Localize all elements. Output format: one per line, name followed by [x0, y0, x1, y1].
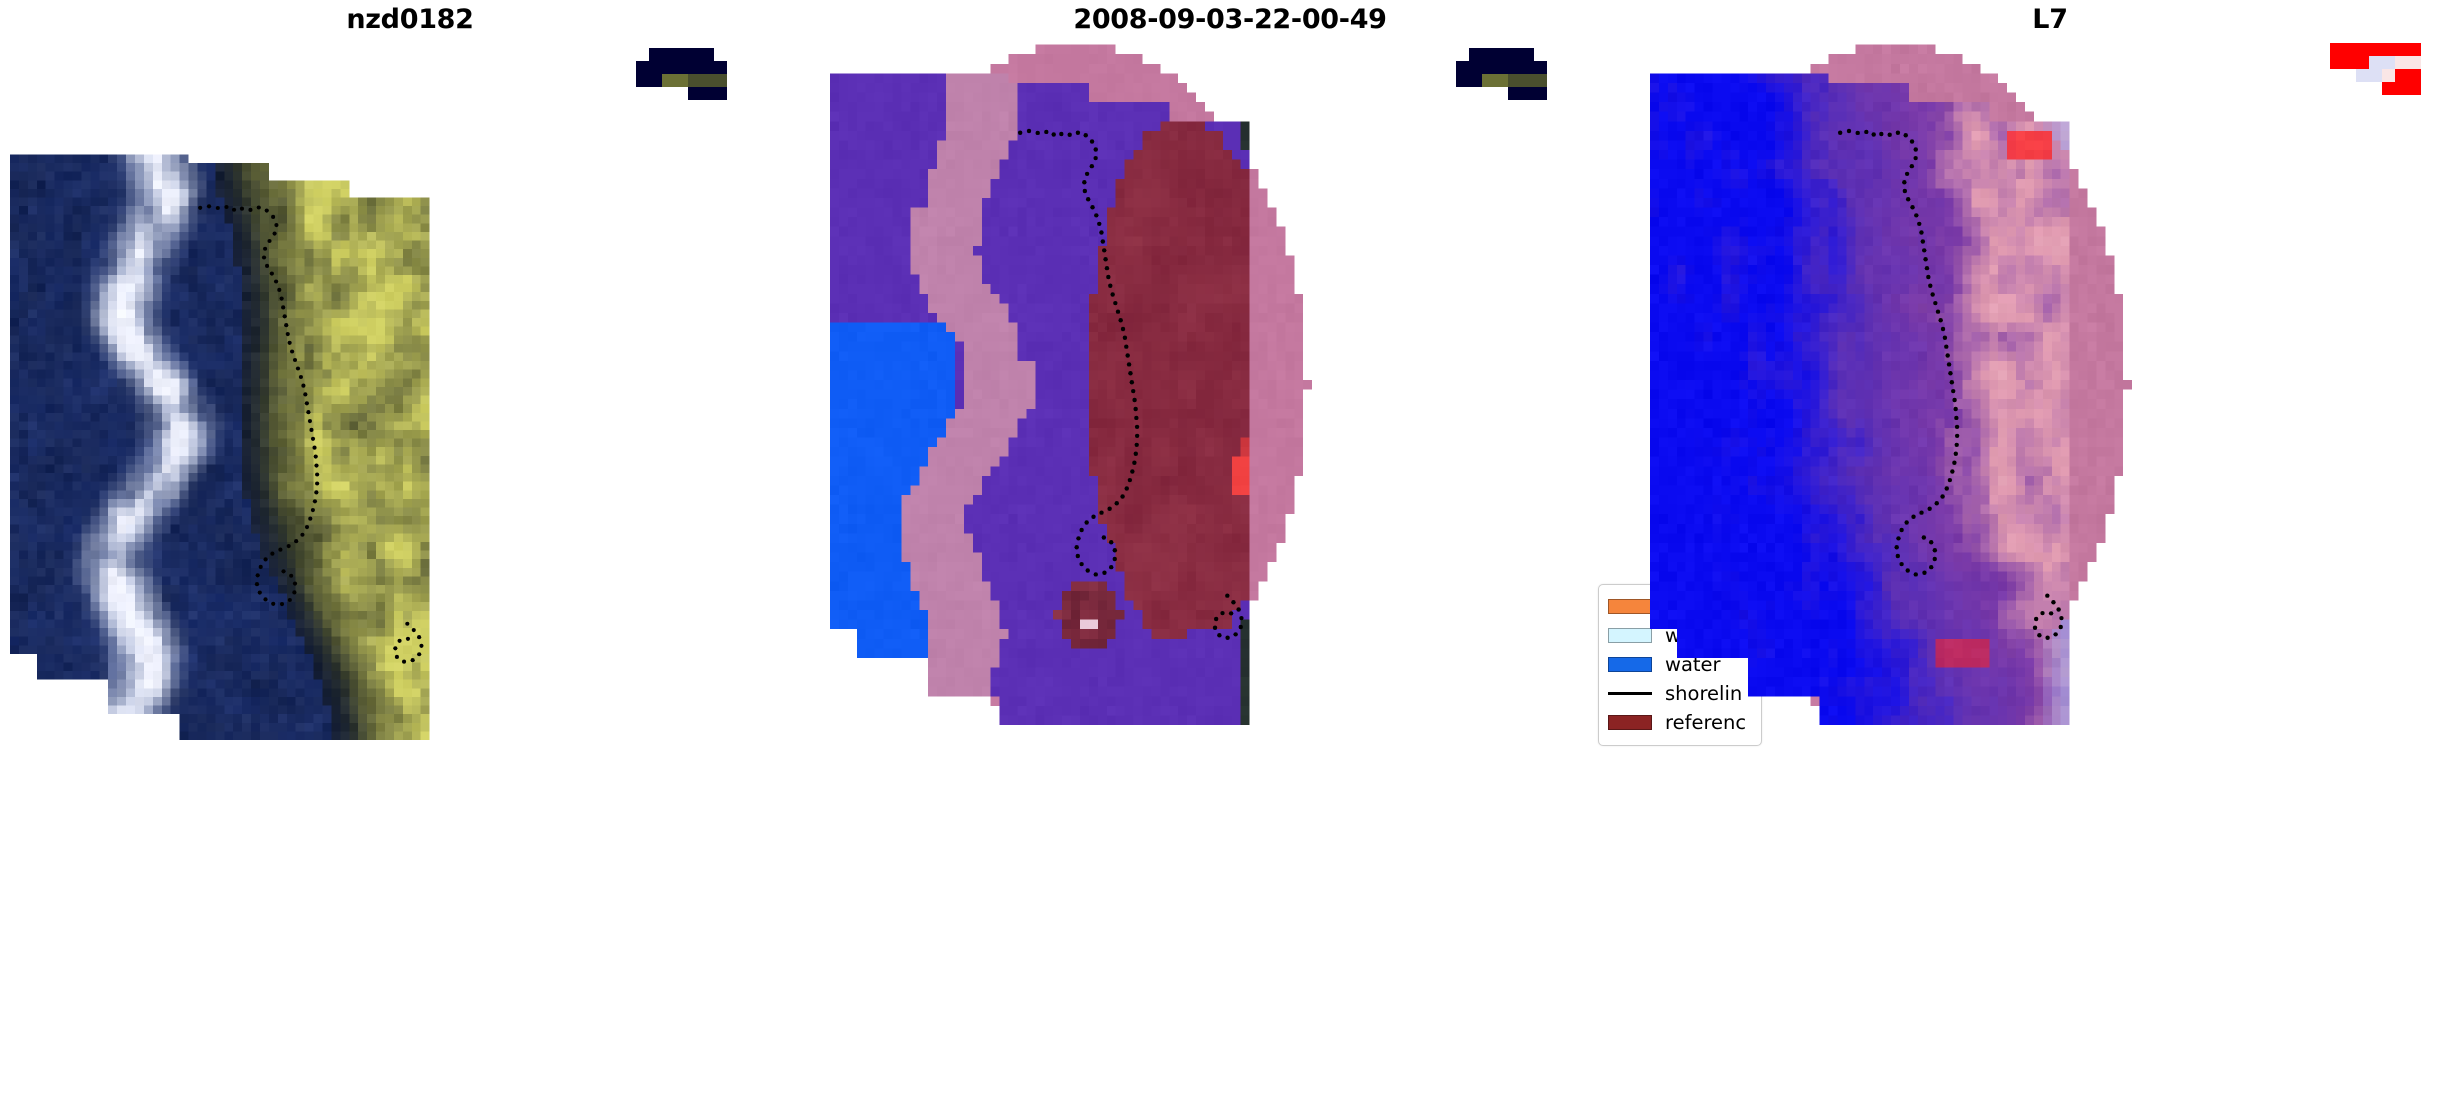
panel-3-corner-patch	[2330, 30, 2421, 95]
panel-classification-map: 2008-09-03-22-00-49	[820, 0, 1640, 1117]
panel-1-corner-patch	[636, 48, 727, 113]
panel-3-title: L7	[1640, 4, 2460, 35]
panel-3-canvas-wrap	[1640, 0, 2460, 1117]
panel-satellite-rgb: nzd0182	[0, 0, 820, 1117]
panel-index-map: L7	[1640, 0, 2460, 1117]
panel-3-shoreline-overlay	[1650, 35, 2150, 725]
panel-1-shoreline-overlay	[10, 120, 510, 740]
panel-1-title: nzd0182	[0, 4, 820, 35]
panel-2-title: 2008-09-03-22-00-49	[820, 4, 1640, 35]
panel-2-corner-patch	[1456, 48, 1547, 113]
panel-2-canvas-wrap	[820, 0, 1640, 1117]
panel-1-canvas-wrap	[0, 0, 820, 1117]
panel-2-shoreline-overlay	[830, 35, 1330, 725]
figure-root: nzd0182 2008-09-03-22-00-49 sand whitewa…	[0, 0, 2460, 1117]
